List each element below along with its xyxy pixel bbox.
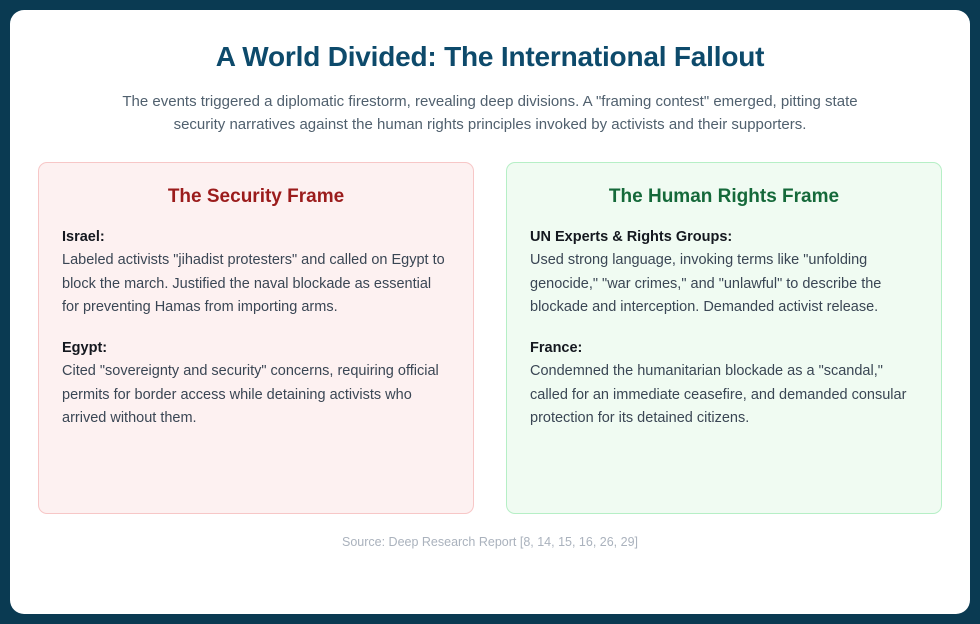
page-subtitle: The events triggered a diplomatic firest… [95,90,885,137]
security-frame-card: The Security Frame Israel: Labeled activ… [38,162,474,514]
source-note: Source: Deep Research Report [8, 14, 15,… [34,534,946,552]
entry-label: Israel: [62,226,450,249]
human-rights-frame-title: The Human Rights Frame [530,185,918,209]
entry-label: France: [530,337,918,360]
entry-text: Labeled activists "jihadist protesters" … [62,249,450,320]
page-title: A World Divided: The International Fallo… [34,40,946,74]
entry-label: Egypt: [62,337,450,360]
rights-entry-un-experts: UN Experts & Rights Groups: Used strong … [530,226,918,320]
entry-text: Condemned the humanitarian blockade as a… [530,360,918,431]
frames-comparison: The Security Frame Israel: Labeled activ… [34,162,946,514]
content-panel: A World Divided: The International Fallo… [10,10,970,614]
security-entry-egypt: Egypt: Cited "sovereignty and security" … [62,337,450,431]
entry-text: Used strong language, invoking terms lik… [530,249,918,320]
rights-entry-france: France: Condemned the humanitarian block… [530,337,918,431]
entry-label: UN Experts & Rights Groups: [530,226,918,249]
human-rights-frame-card: The Human Rights Frame UN Experts & Righ… [506,162,942,514]
security-frame-title: The Security Frame [62,185,450,209]
page-background: A World Divided: The International Fallo… [0,0,980,624]
security-entry-israel: Israel: Labeled activists "jihadist prot… [62,226,450,320]
entry-text: Cited "sovereignty and security" concern… [62,360,450,431]
